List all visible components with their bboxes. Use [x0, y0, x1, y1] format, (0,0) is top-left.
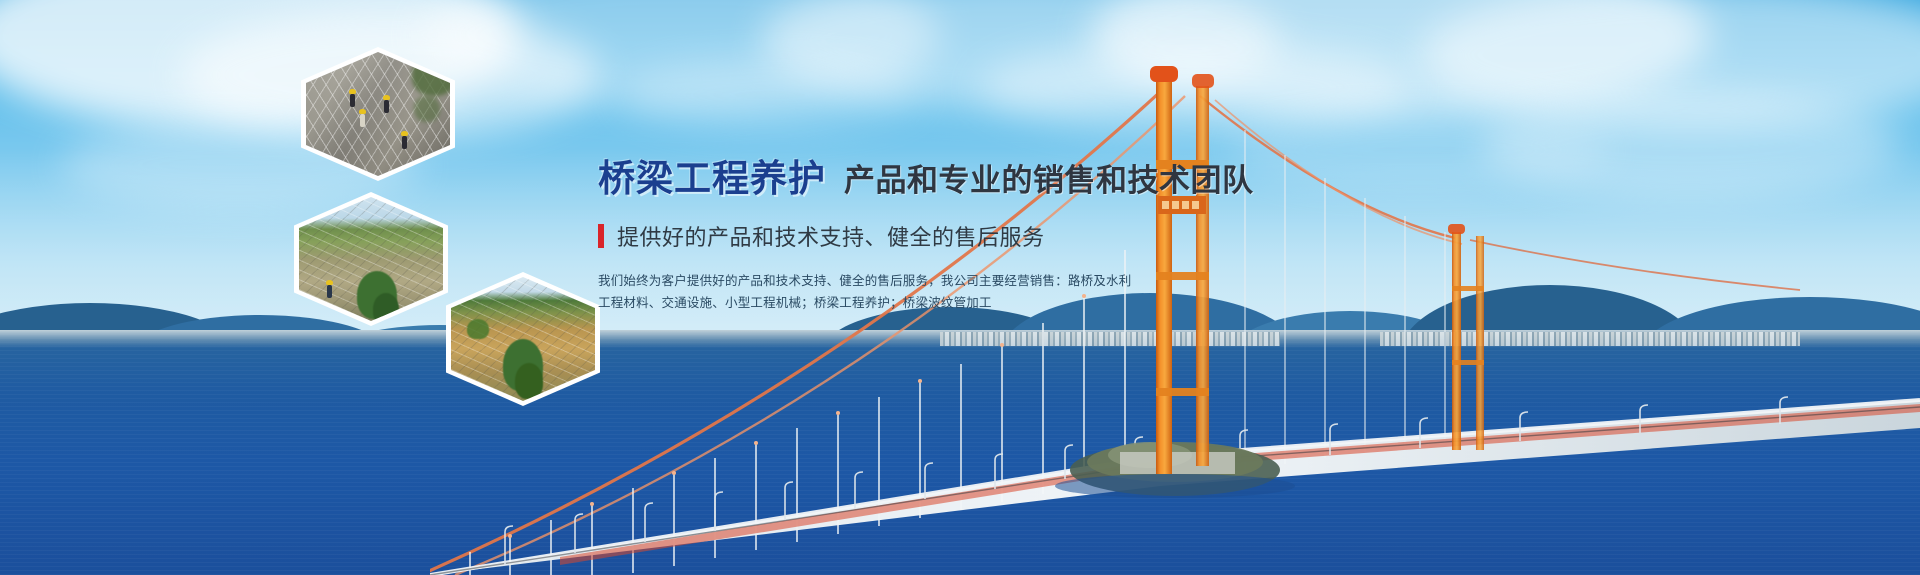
headline-primary: 桥梁工程养护 [598, 148, 826, 202]
body-line: 工程材料、交通设施、小型工程机械；桥梁工程养护；桥梁波纹管加工 [598, 292, 1258, 314]
hero-banner: 桥梁工程养护 产品和专业的销售和技术团队 提供好的产品和技术支持、健全的售后服务… [0, 0, 1920, 575]
banner-copy-block: 桥梁工程养护 产品和专业的销售和技术团队 提供好的产品和技术支持、健全的售后服务… [598, 148, 1258, 314]
body-paragraph: 我们始终为客户提供好的产品和技术支持、健全的售后服务，我公司主要经营销售：路桥及… [598, 270, 1258, 314]
subtitle-row: 提供好的产品和技术支持、健全的售后服务 [598, 220, 1258, 252]
subtitle-text: 提供好的产品和技术支持、健全的售后服务 [617, 220, 1045, 252]
headline-row: 桥梁工程养护 产品和专业的销售和技术团队 [598, 148, 1258, 202]
red-accent-bar [598, 224, 604, 248]
body-line: 我们始终为客户提供好的产品和技术支持、健全的售后服务，我公司主要经营销售：路桥及… [598, 270, 1258, 292]
headline-secondary: 产品和专业的销售和技术团队 [844, 155, 1254, 202]
